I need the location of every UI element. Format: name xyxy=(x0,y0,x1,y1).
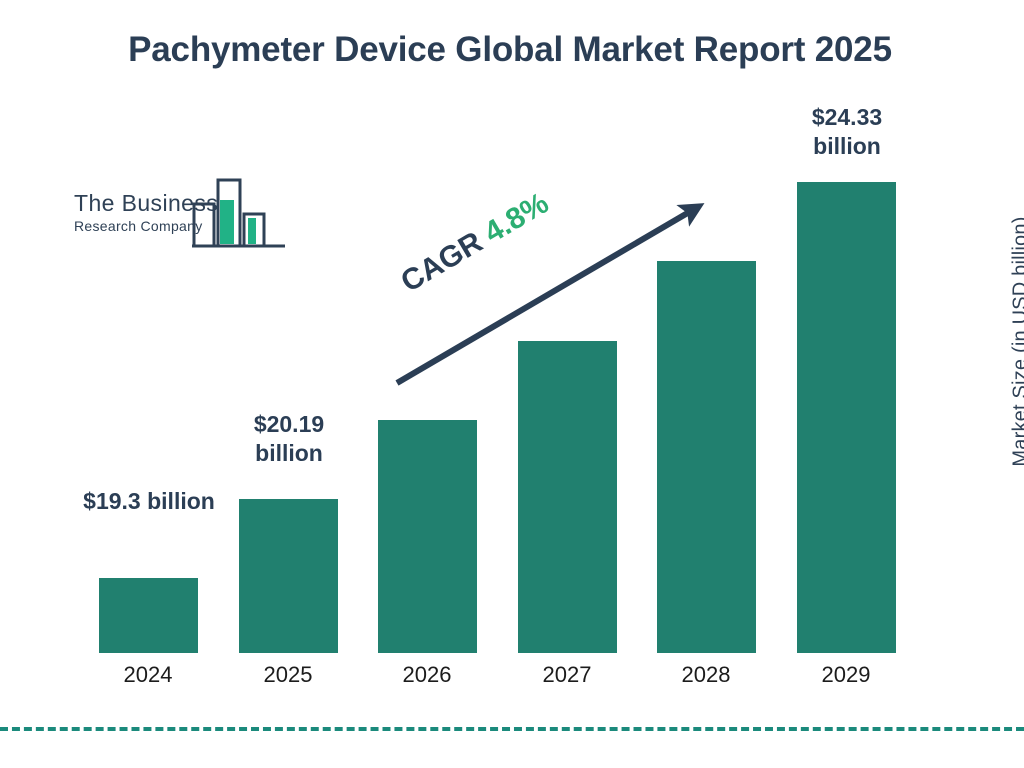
x-tick-2026: 2026 xyxy=(367,662,487,688)
bar-2027 xyxy=(518,341,617,653)
x-tick-2024: 2024 xyxy=(88,662,208,688)
bar-value-label-2025: $20.19 billion xyxy=(218,410,360,467)
y-axis-title: Market Size (in USD billion) xyxy=(1010,182,1024,502)
chart-canvas: Pachymeter Device Global Market Report 2… xyxy=(0,0,1024,768)
bar-chart-plot: $19.3 billion $20.19 billion $24.33 bill… xyxy=(0,0,1024,768)
bar-2024 xyxy=(99,578,198,653)
x-tick-2025: 2025 xyxy=(228,662,348,688)
bar-value-amount-2029: $24.33 billion xyxy=(812,104,882,159)
bar-value-label-2024: $19.3 billion xyxy=(78,487,220,516)
bar-2028 xyxy=(657,261,756,653)
bar-value-amount-2024: $19.3 billion xyxy=(83,488,215,514)
bar-2029 xyxy=(797,182,896,653)
x-tick-2028: 2028 xyxy=(646,662,766,688)
cagr-label: CAGR xyxy=(395,226,488,299)
x-tick-2027: 2027 xyxy=(507,662,627,688)
bar-2025 xyxy=(239,499,338,653)
footer-divider xyxy=(0,727,1024,731)
bar-value-label-2029: $24.33 billion xyxy=(776,103,918,160)
bar-value-amount-2025: $20.19 billion xyxy=(254,411,324,466)
x-tick-2029: 2029 xyxy=(786,662,906,688)
cagr-value: 4.8% xyxy=(479,187,555,250)
cagr-annotation: CAGR 4.8% xyxy=(395,187,554,300)
bar-2026 xyxy=(378,420,477,653)
